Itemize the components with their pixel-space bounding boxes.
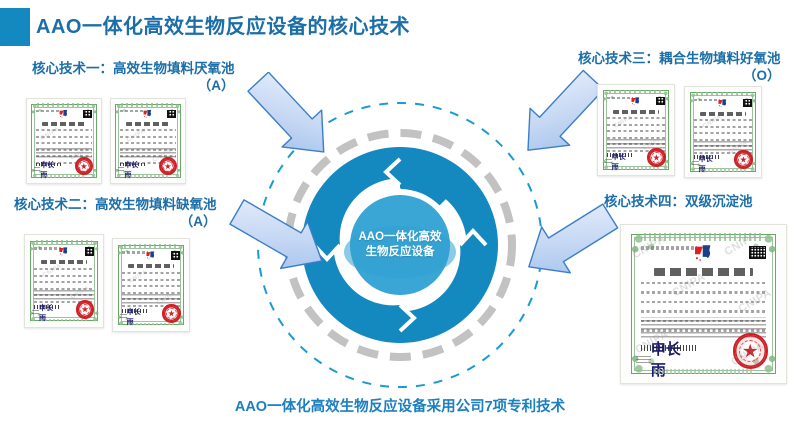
certificate-signature-label	[605, 158, 612, 164]
certificate-signature: 申长雨	[651, 353, 694, 366]
certificate-red-seal	[733, 333, 768, 368]
certificate-red-seal	[76, 300, 95, 319]
cnipa-emblem-icon	[142, 109, 155, 120]
certificate-image[interactable]: 申长雨 CNIPA CNIPA	[597, 84, 675, 176]
certificate-top-ornament-band	[124, 244, 179, 249]
certificate-bottom-ornament-band	[42, 175, 86, 178]
label-core-tech-1: 核心技术一：高效生物填料厌氧池 （A）	[32, 60, 235, 94]
certificate-top-ornament-band	[121, 103, 174, 107]
label-core-tech-2-sub: （A）	[14, 213, 217, 230]
certificate-signature: 申长雨	[39, 310, 59, 317]
certificate-signature-label	[34, 167, 41, 173]
cnipa-emblem-icon	[58, 109, 71, 120]
label-core-tech-4-text: 核心技术四：双级沉淀池	[604, 194, 753, 209]
certificate-image-large[interactable]: 申长雨 CNIPA CNIPA CNIPA CNIPA CNIPA CNIPA	[620, 224, 787, 384]
certificate-title-text	[654, 268, 753, 276]
certificate-qr-code	[743, 99, 752, 108]
certificate-image[interactable]: 申长雨 CNIPA CNIPA	[26, 98, 102, 184]
certificate-top-ornament-band	[36, 240, 92, 245]
certificate-number-line	[641, 246, 697, 251]
core-highlight-band	[344, 226, 456, 278]
certificate-bottom-ornament-band	[613, 167, 659, 170]
certificate-bottom-ornament-band	[700, 169, 746, 172]
certificate-red-seal	[162, 304, 180, 322]
label-core-tech-1-text: 核心技术一：高效生物填料厌氧池	[32, 61, 235, 76]
certificate-top-ornament-band	[644, 233, 763, 241]
certificate-signature-label	[692, 160, 699, 166]
certificate-signature: 申长雨	[127, 314, 147, 321]
certificate-title-text	[126, 122, 170, 126]
certificate-bottom-ornament-band	[126, 175, 170, 178]
cnipa-emblem-icon	[57, 246, 70, 258]
cnipa-emblem-icon	[717, 98, 730, 110]
certificate-title-text	[42, 122, 86, 126]
certificate-qr-code	[83, 110, 92, 118]
page-title: AAO一体化高效生物反应设备的核心技术	[36, 10, 410, 39]
certificate-title-text	[700, 112, 746, 116]
certificate-image[interactable]: 申长雨 CNIPA CNIPA	[684, 86, 762, 178]
certificate-signature-label	[120, 314, 127, 320]
slide-canvas: AAO一体化高效生物反应设备的核心技术 核心技术一：高效生物填料厌氧池 （A） …	[0, 0, 800, 439]
certificate-image[interactable]: 申长雨 CNIPA CNIPA	[112, 238, 190, 332]
bottom-caption: AAO一体化高效生物反应设备采用公司7项专利技术	[0, 395, 800, 416]
certificate-signature-label	[636, 354, 651, 365]
certificate-signature-label	[118, 167, 125, 173]
certificate-qr-code	[167, 110, 176, 118]
certificate-signature: 申长雨	[40, 167, 59, 174]
title-accent-bar	[0, 8, 30, 46]
cnipa-emblem-icon	[145, 250, 158, 262]
certificate-title-text	[41, 260, 88, 264]
certificate-image[interactable]: 申长雨 CNIPA CNIPA	[24, 234, 104, 328]
certificate-bottom-ornament-band	[654, 369, 753, 374]
certificate-qr-code	[171, 251, 180, 260]
certificate-title-text	[128, 264, 174, 268]
arrow-bottom-left	[226, 192, 338, 284]
label-core-tech-2: 核心技术二：高效生物填料缺氧池 （A）	[14, 196, 217, 230]
label-core-tech-2-text: 核心技术二：高效生物填料缺氧池	[14, 197, 217, 212]
certificate-bottom-ornament-band	[41, 319, 88, 322]
certificate-signature: 申长雨	[124, 167, 143, 174]
label-core-tech-4: 核心技术四：双级沉淀池	[604, 193, 753, 210]
arrow-bottom-right	[512, 196, 622, 290]
label-core-tech-3-text: 核心技术三：耦合生物填料好氧池	[578, 51, 781, 66]
certificate-signature: 申长雨	[612, 158, 632, 165]
certificate-title-text	[613, 110, 659, 114]
arrow-top-left	[238, 72, 348, 167]
certificate-qr-code	[656, 97, 665, 106]
certificate-qr-code	[749, 246, 766, 260]
certificate-qr-code	[85, 247, 94, 256]
certificate-signature-label	[32, 310, 39, 316]
certificate-signature: 申长雨	[699, 160, 719, 167]
certificate-red-seal	[734, 150, 752, 168]
certificate-top-ornament-band	[696, 92, 751, 97]
certificate-bottom-ornament-band	[128, 323, 174, 326]
certificate-red-seal	[647, 148, 665, 166]
cnipa-emblem-icon	[689, 244, 717, 265]
label-core-tech-1-sub: （A）	[32, 77, 235, 94]
certificate-top-ornament-band	[609, 90, 664, 95]
certificate-top-ornament-band	[37, 103, 90, 107]
certificate-image[interactable]: 申长雨 CNIPA CNIPA	[110, 98, 186, 184]
cnipa-emblem-icon	[630, 96, 643, 108]
